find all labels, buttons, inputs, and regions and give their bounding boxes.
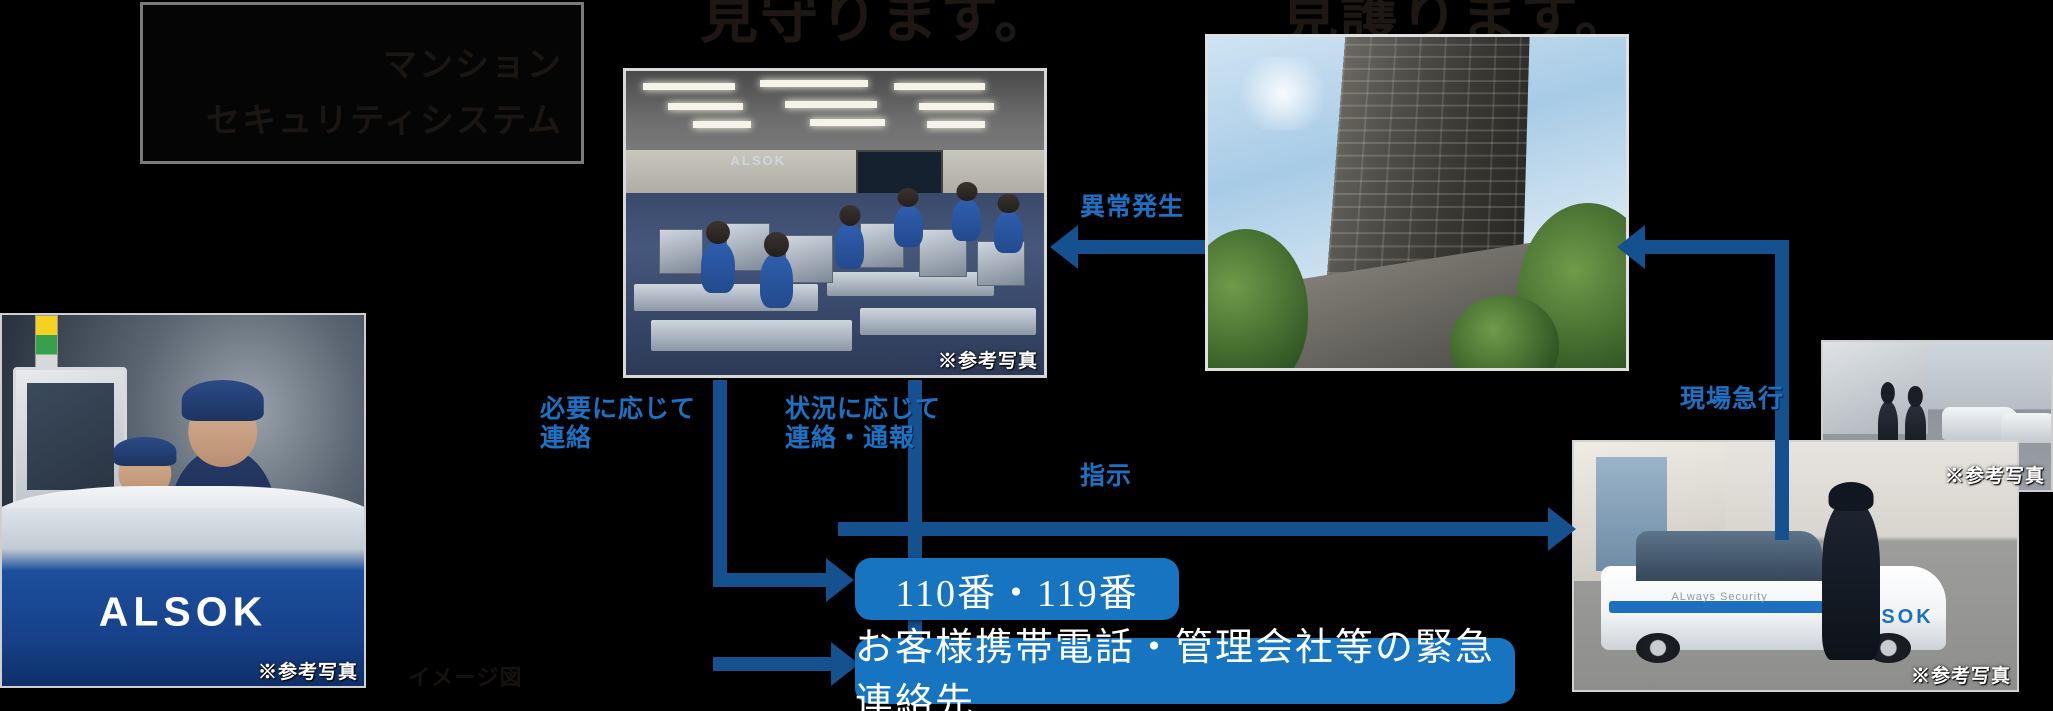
operator-person — [760, 253, 793, 308]
arrow-abnormality-head — [1050, 225, 1078, 269]
arrow-rush-horizontal — [1645, 240, 1789, 254]
arrow-contact-vertical — [713, 380, 727, 580]
person-cap — [113, 437, 176, 466]
alsok-logo-control-room: ALSOK — [731, 153, 787, 168]
title-panel: マンション セキュリティシステム — [140, 2, 584, 164]
label-contact-as-needed: 必要に応じて 連絡 — [540, 395, 696, 453]
image-caption: イメージ図 — [408, 660, 523, 692]
person-cap — [182, 380, 265, 421]
heading-center: 見守ります。 — [700, 0, 1054, 54]
patrol-car-cabin — [1636, 531, 1822, 581]
label-abnormality: 異常発生 — [1080, 193, 1184, 222]
sun-glare — [1233, 57, 1333, 130]
photo-operator: ALSOK ※参考写真 — [0, 313, 366, 688]
operator-person — [894, 205, 923, 248]
photo-building — [1205, 34, 1629, 371]
console-desk — [651, 320, 852, 350]
console-desk — [860, 308, 1036, 335]
arrow-contact-head — [826, 558, 854, 602]
box-emergency-numbers[interactable]: 110番・119番 — [855, 558, 1179, 620]
operator-monitor — [13, 367, 128, 507]
alsok-logo-operator: ALSOK — [99, 588, 268, 635]
operator-person — [952, 199, 981, 242]
console-monitor — [659, 229, 703, 274]
car-tagline: ALways Security — [1671, 591, 1767, 603]
guard-person — [1822, 502, 1880, 661]
arrow-rush-head — [1617, 225, 1645, 269]
parked-car — [2001, 413, 2053, 443]
arrow-report-horizontal — [713, 657, 833, 671]
watermark-control-room: ※参考写真 — [938, 346, 1038, 373]
console-desk — [827, 272, 994, 296]
box-customer-contacts[interactable]: お客様携帯電話・管理会社等の緊急連絡先 — [855, 638, 1515, 704]
arrow-instruction-line — [838, 522, 1550, 536]
operator-person — [994, 211, 1023, 254]
label-report-as-needed: 状況に応じて 連絡・通報 — [785, 395, 941, 453]
arrow-contact-horizontal — [713, 573, 828, 587]
arrow-instruction-head — [1548, 507, 1576, 551]
car-wheel — [1636, 633, 1680, 663]
watermark-patrol: ※参考写真 — [1911, 661, 2011, 688]
operator-person — [701, 241, 734, 293]
label-instruction: 指示 — [1080, 462, 1132, 491]
arrow-abnormality-line — [1078, 240, 1205, 254]
operator-person — [835, 223, 864, 269]
guard-helmet — [1828, 482, 1873, 511]
title-line-2: セキュリティシステム — [206, 93, 563, 142]
label-rush-to-scene: 現場急行 — [1680, 385, 1784, 414]
title-line-1: マンション — [383, 37, 563, 86]
watermark-operator: ※参考写真 — [258, 657, 358, 684]
watermark-street: ※参考写真 — [1945, 461, 2045, 488]
diagram-canvas: マンション セキュリティシステム 見守ります。 見護ります。 ALSOK ※参考… — [0, 0, 2053, 711]
photo-control-room: ALSOK ※参考写真 — [623, 68, 1047, 378]
